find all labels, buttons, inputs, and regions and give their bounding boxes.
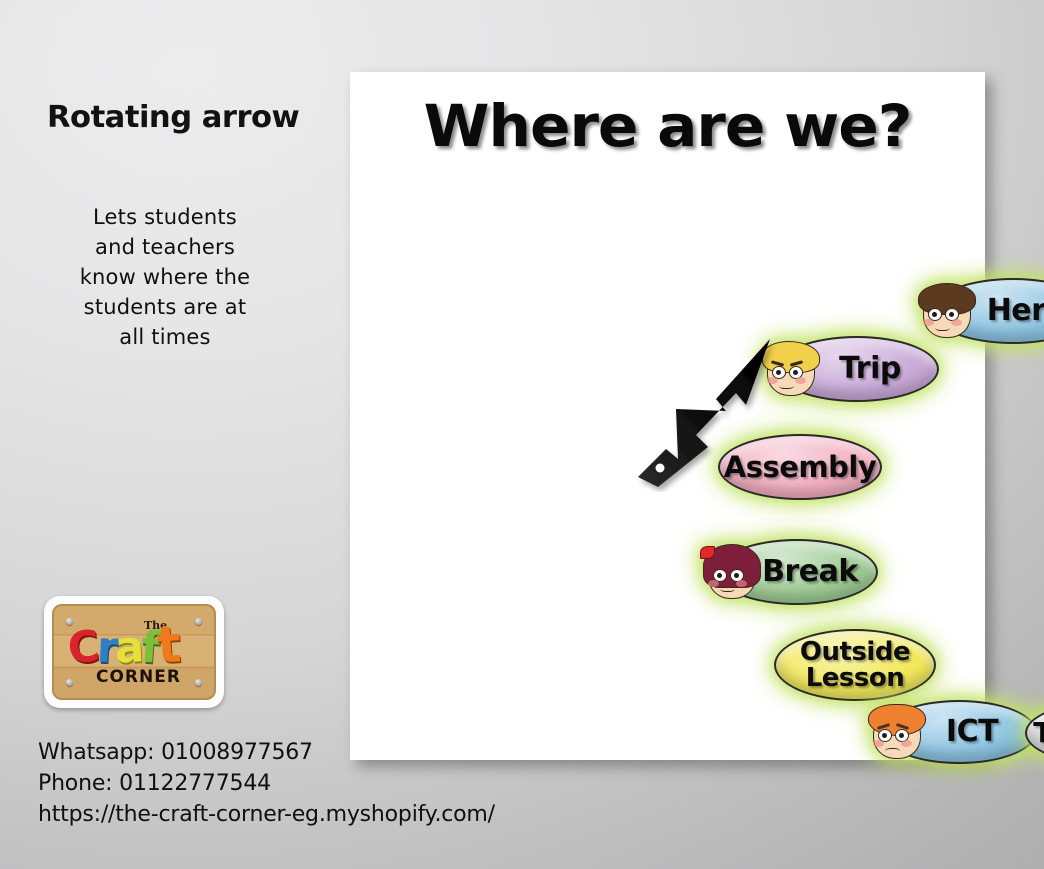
oval-label: Outside Lesson: [800, 639, 910, 691]
location-oval-here[interactable]: Here: [931, 278, 1044, 344]
location-oval-outside-lesson[interactable]: Outside Lesson: [774, 629, 936, 701]
oval-label: Theater: [1033, 719, 1044, 747]
poster-card: Where are we? HereTripArtAssemblyMusicBr…: [350, 72, 985, 760]
logo-letter-t: t: [155, 619, 179, 670]
kid-face-icon: [915, 281, 977, 341]
logo-wood-board: The Craft CORNER: [52, 604, 216, 700]
oval-label: Here: [987, 296, 1044, 326]
face-cheek: [951, 319, 962, 326]
kid-face-icon: [865, 702, 927, 762]
poster-title: Where are we?: [340, 92, 994, 160]
face-cheek: [901, 740, 912, 747]
face-mouth: [720, 584, 735, 592]
phone-line: Phone: 01122777544: [38, 768, 495, 799]
location-oval-break[interactable]: Break: [716, 539, 878, 605]
oval-body: Theater: [1025, 701, 1044, 765]
face-mouth: [935, 323, 950, 331]
oval-label: Trip: [839, 354, 901, 384]
website-link[interactable]: https://the-craft-corner-eg.myshopify.co…: [38, 799, 495, 830]
logo-craft-word: Craft: [68, 620, 177, 670]
logo-letter-c: C: [66, 626, 99, 672]
logo-corner-word: CORNER: [96, 667, 181, 687]
face-cheek: [873, 740, 884, 747]
oval-label: ICT: [946, 717, 998, 747]
oval-body: Outside Lesson: [774, 629, 936, 701]
description-text: Lets students and teachers know where th…: [0, 202, 330, 352]
page-root: Rotating arrow Lets students and teacher…: [0, 0, 1044, 869]
location-oval-trip[interactable]: Trip: [775, 336, 939, 402]
screw-icon: [195, 679, 202, 686]
kid-face-icon: [700, 542, 762, 602]
logo-letter-r: r: [95, 627, 115, 671]
brand-logo[interactable]: The Craft CORNER: [44, 596, 224, 708]
face-cheek: [795, 377, 806, 384]
location-oval-ict[interactable]: ICT: [881, 700, 1037, 764]
logo-letter-a: a: [114, 626, 142, 670]
left-info-panel: Rotating arrow Lets students and teacher…: [0, 0, 350, 869]
screw-icon: [66, 679, 73, 686]
page-title: Rotating arrow: [47, 100, 299, 135]
face-mouth: [885, 748, 900, 756]
arrow-pivot-hole: [656, 464, 665, 473]
oval-label: Break: [762, 557, 858, 587]
face-cheek: [736, 580, 747, 587]
hair-bow-icon: [700, 546, 715, 559]
face-cheek: [708, 580, 719, 587]
rotating-arrow[interactable]: [630, 327, 790, 492]
face-cheek: [923, 319, 934, 326]
screw-icon: [195, 618, 202, 625]
location-oval-theater[interactable]: Theater: [1025, 701, 1044, 765]
